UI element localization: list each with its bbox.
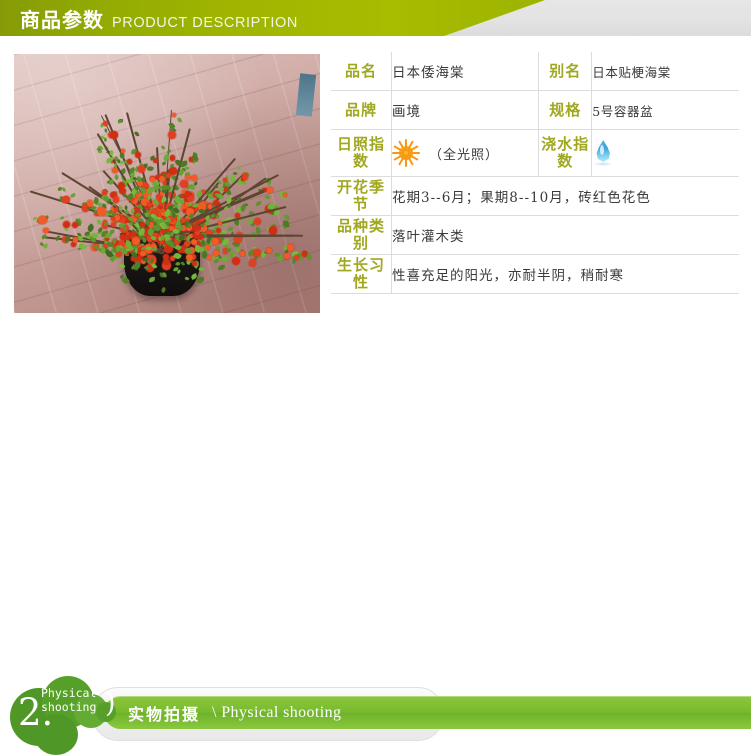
leaf bbox=[301, 257, 304, 261]
leaf bbox=[185, 277, 190, 281]
leaf bbox=[69, 192, 75, 197]
leaf bbox=[148, 276, 155, 282]
blossom bbox=[87, 200, 93, 206]
leaf bbox=[64, 227, 69, 232]
spec-label-pinzhong-leibie: 品种类别 bbox=[331, 216, 392, 255]
spec-value-kaihua-jijie: 花期3--6月；果期8--10月，砖红色花色 bbox=[392, 177, 740, 216]
leaf bbox=[179, 234, 185, 239]
spec-label-pinpai: 品牌 bbox=[331, 91, 392, 130]
blossom bbox=[205, 245, 210, 250]
blossom bbox=[121, 149, 125, 153]
blossom bbox=[111, 222, 116, 227]
spec-value-jiaoshui-zhishu bbox=[592, 130, 739, 177]
leaf bbox=[97, 219, 101, 224]
leaf bbox=[161, 145, 165, 150]
blossom bbox=[112, 168, 117, 173]
blossom bbox=[223, 187, 227, 191]
blossom bbox=[73, 237, 78, 242]
footer-bar-label-cn: 实物拍摄 bbox=[128, 701, 200, 725]
footer-bar-text: 实物拍摄 \ Physical shooting bbox=[128, 696, 341, 729]
blossom bbox=[97, 207, 105, 215]
spec-label-bieming: 别名 bbox=[539, 52, 592, 91]
blossom bbox=[267, 187, 273, 193]
water-index-line bbox=[592, 139, 739, 167]
leaf bbox=[197, 277, 204, 283]
section-header: 商品参数 PRODUCT DESCRIPTION bbox=[0, 0, 751, 44]
badge-paren: ) bbox=[105, 690, 116, 717]
leaf bbox=[107, 157, 113, 162]
spec-value-bieming: 日本贴梗海棠 bbox=[592, 52, 739, 91]
blossom bbox=[168, 131, 176, 139]
leaf bbox=[177, 117, 182, 123]
blossom bbox=[284, 253, 290, 259]
leaf bbox=[160, 287, 166, 293]
product-photo bbox=[14, 54, 320, 313]
leaf bbox=[255, 200, 262, 206]
blossom bbox=[287, 244, 294, 251]
leaf bbox=[221, 256, 229, 263]
blossom bbox=[135, 152, 141, 158]
spec-table: 品名 日本倭海棠 别名 日本贴梗海棠 品牌 画境 规格 5号容器盆 日照指数 bbox=[331, 52, 739, 294]
table-row: 品种类别 落叶灌木类 bbox=[331, 216, 739, 255]
blossom bbox=[192, 175, 198, 181]
page-title: 商品参数 PRODUCT DESCRIPTION bbox=[20, 5, 298, 35]
leaf bbox=[139, 195, 143, 199]
blossom bbox=[114, 208, 118, 212]
table-row: 品牌 画境 规格 5号容器盆 bbox=[331, 91, 739, 130]
blossom bbox=[240, 251, 244, 255]
blossom bbox=[212, 238, 219, 245]
blossom bbox=[302, 251, 308, 257]
quince-shrub bbox=[14, 54, 320, 313]
blossom bbox=[242, 173, 249, 180]
water-drop-icon bbox=[592, 139, 614, 167]
water-drop-shadow bbox=[593, 162, 613, 166]
leaf bbox=[214, 259, 220, 264]
blossom bbox=[38, 216, 46, 224]
blossom bbox=[113, 196, 120, 203]
leaf bbox=[134, 131, 140, 137]
product-photo-image bbox=[14, 54, 320, 313]
leaf bbox=[137, 177, 141, 182]
leaf bbox=[264, 194, 270, 199]
spec-label-pinming: 品名 bbox=[331, 52, 392, 91]
blossom bbox=[114, 215, 119, 220]
leaf bbox=[146, 165, 154, 172]
sun-index-line: （全光照） bbox=[392, 139, 538, 167]
blossom bbox=[169, 167, 176, 174]
product-description-page: 商品参数 PRODUCT DESCRIPTION 品名 日本倭海棠 别名 日本贴… bbox=[0, 0, 751, 419]
leaf bbox=[226, 248, 231, 252]
leaf bbox=[176, 224, 181, 230]
spec-label-guige: 规格 bbox=[539, 91, 592, 130]
leaf bbox=[110, 229, 115, 233]
spec-value-pinming: 日本倭海棠 bbox=[392, 52, 539, 91]
blossom bbox=[194, 225, 200, 231]
leaf bbox=[121, 277, 130, 286]
leaf bbox=[198, 266, 204, 271]
blossom bbox=[43, 228, 49, 234]
footer-bar-label-en: \ Physical shooting bbox=[212, 704, 341, 722]
leaf bbox=[161, 162, 165, 166]
spec-label-kaihua-jijie: 开花季节 bbox=[331, 177, 392, 216]
leaf bbox=[118, 120, 123, 124]
spec-label-shengzhang-xixing: 生长习性 bbox=[331, 255, 392, 294]
leaf bbox=[41, 235, 47, 240]
badge-caption-line1: Physical bbox=[41, 686, 96, 700]
page-title-cn: 商品参数 bbox=[20, 5, 104, 35]
leaf bbox=[283, 220, 289, 227]
blossom bbox=[127, 159, 132, 164]
blossom bbox=[266, 248, 271, 253]
blossom bbox=[269, 226, 277, 234]
spec-value-pinzhong-leibie: 落叶灌木类 bbox=[392, 216, 740, 255]
leaf bbox=[222, 239, 230, 246]
leaf bbox=[86, 223, 95, 232]
blossom bbox=[150, 177, 155, 182]
spec-value-pinpai: 画境 bbox=[392, 91, 539, 130]
blossom bbox=[72, 222, 78, 228]
blossom bbox=[138, 165, 145, 172]
sun-index-note: （全光照） bbox=[429, 144, 499, 163]
table-row: 日照指数 bbox=[331, 130, 739, 177]
leaf bbox=[180, 261, 184, 266]
leaf bbox=[237, 167, 241, 170]
spec-label-jiaoshui-zhishu: 浇水指数 bbox=[539, 130, 592, 177]
leaf bbox=[163, 272, 167, 277]
blossom bbox=[63, 221, 70, 228]
blossom bbox=[213, 250, 219, 256]
leaf bbox=[114, 174, 120, 180]
leaf bbox=[273, 210, 279, 215]
blossom bbox=[283, 193, 287, 197]
footer-green-bar: 实物拍摄 \ Physical shooting bbox=[104, 696, 751, 729]
leaf bbox=[244, 202, 249, 207]
spec-value-guige: 5号容器盆 bbox=[592, 91, 739, 130]
leaf bbox=[147, 187, 154, 193]
blossom bbox=[140, 222, 145, 227]
blossom bbox=[254, 218, 261, 225]
blossom bbox=[232, 257, 240, 265]
blossom bbox=[62, 196, 69, 203]
blossom bbox=[208, 204, 212, 208]
blossom bbox=[159, 176, 165, 182]
section-footer: 实物拍摄 \ Physical shooting 2. Physicalshoo… bbox=[0, 336, 751, 419]
table-row: 生长习性 性喜充足的阳光，亦耐半阴，稍耐寒 bbox=[331, 255, 739, 294]
table-row: 品名 日本倭海棠 别名 日本贴梗海棠 bbox=[331, 52, 739, 91]
page-title-en: PRODUCT DESCRIPTION bbox=[112, 8, 298, 38]
leaf bbox=[119, 262, 125, 268]
blossom bbox=[207, 255, 212, 260]
leaf bbox=[193, 181, 198, 186]
spec-label-rizhao-zhishu: 日照指数 bbox=[331, 130, 392, 177]
spec-table-body: 品名 日本倭海棠 别名 日本贴梗海棠 品牌 画境 规格 5号容器盆 日照指数 bbox=[331, 52, 739, 294]
leaf bbox=[176, 269, 181, 274]
blossom bbox=[119, 188, 126, 195]
blossom bbox=[249, 259, 256, 266]
section-badge: 2. Physicalshooting ) bbox=[8, 674, 128, 755]
blossom bbox=[110, 131, 117, 138]
spec-value-shengzhang-xixing: 性喜充足的阳光，亦耐半阴，稍耐寒 bbox=[392, 255, 740, 294]
leaf bbox=[59, 215, 64, 219]
leaf bbox=[152, 263, 158, 269]
leaf bbox=[218, 264, 225, 270]
leaf bbox=[215, 214, 220, 219]
sun-icon bbox=[392, 139, 420, 167]
spec-value-rizhao-zhishu: （全光照） bbox=[392, 130, 539, 177]
table-row: 开花季节 花期3--6月；果期8--10月，砖红色花色 bbox=[331, 177, 739, 216]
leaf bbox=[125, 240, 132, 248]
leaf bbox=[62, 187, 66, 191]
badge-caption-line2: shooting bbox=[41, 700, 96, 714]
leaf bbox=[224, 207, 229, 212]
blossom bbox=[172, 113, 176, 117]
